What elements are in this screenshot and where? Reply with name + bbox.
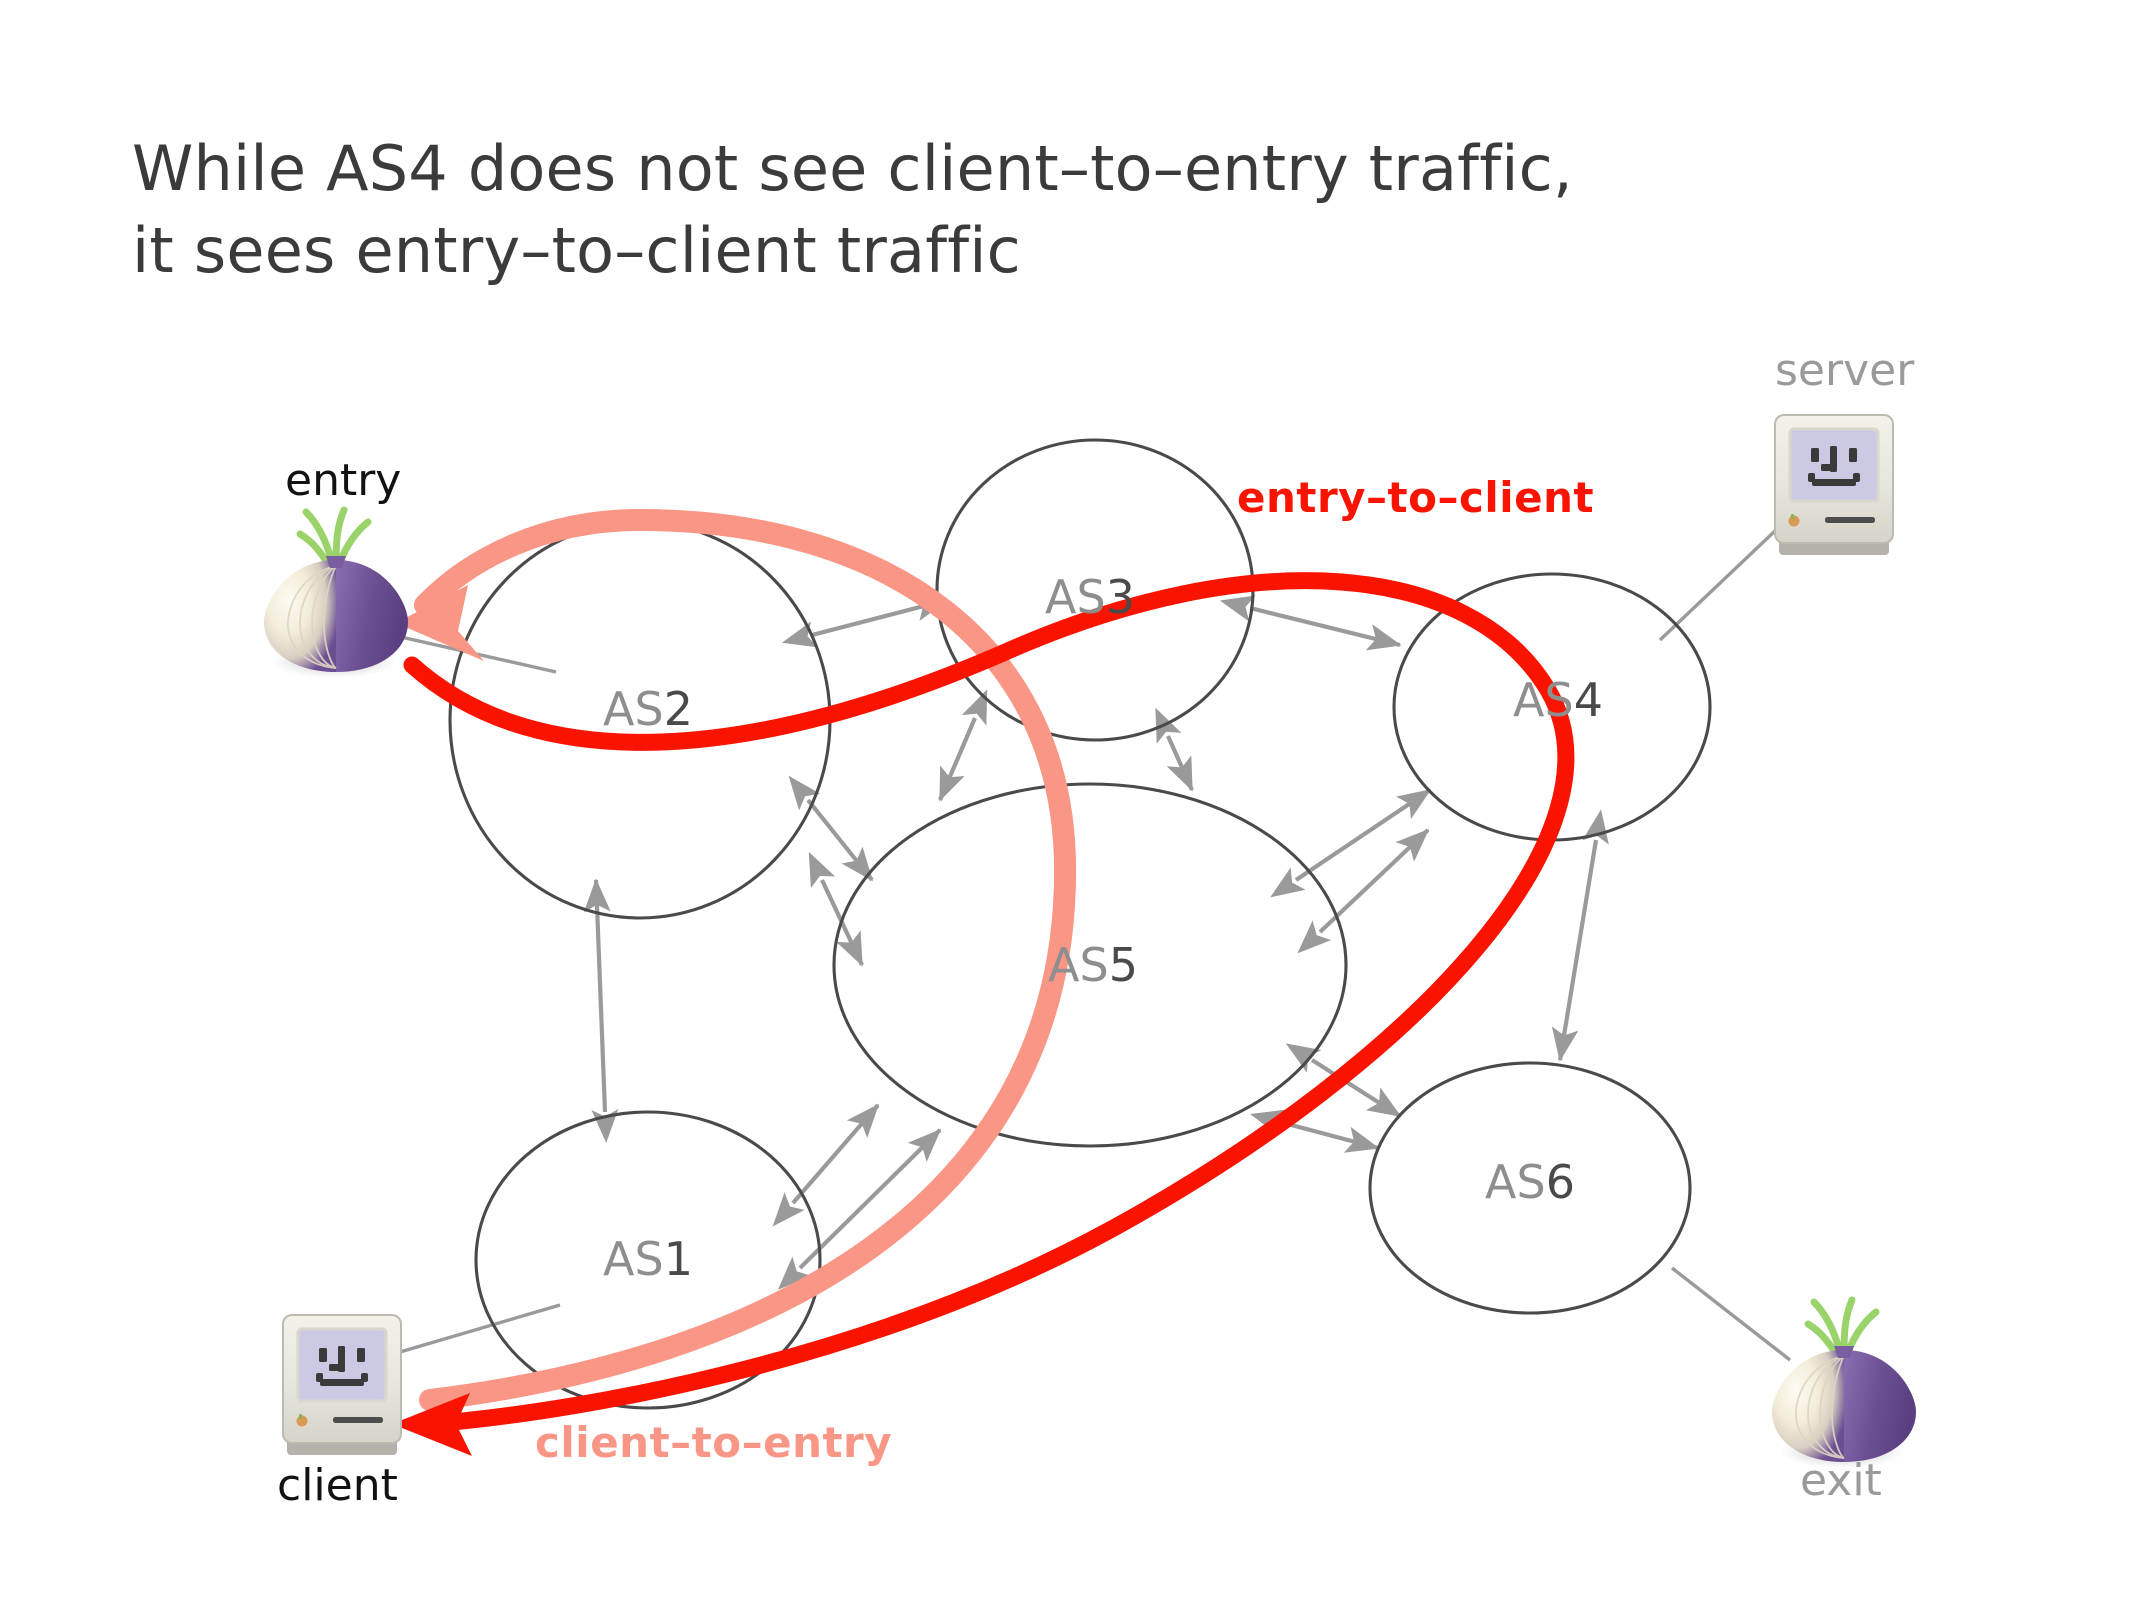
onion-body-right xyxy=(336,560,408,672)
as-label-as4: AS4 xyxy=(1513,673,1603,727)
as-label-as2: AS2 xyxy=(603,682,693,736)
peer-link-as5-as4 xyxy=(1296,790,1430,880)
mac-computer-icon-server[interactable] xyxy=(1775,415,1893,555)
peer-link-as3-as5-b xyxy=(1168,736,1192,790)
onion-icon-entry[interactable] xyxy=(264,510,408,678)
as-node-labels: AS2 AS3 AS4 AS5 AS1 AS6 xyxy=(603,570,1603,1286)
flow-label-entry-to-client: entry–to–client xyxy=(1237,473,1594,522)
peer-links xyxy=(596,600,1596,1268)
peer-link-as5-as6-b xyxy=(1280,1122,1378,1148)
mac-drive-slot xyxy=(333,1417,383,1423)
endpoint-label-server: server xyxy=(1775,345,1914,396)
mac-drive-slot xyxy=(1825,517,1875,523)
flow-client-to-entry xyxy=(396,520,1065,1400)
flow-entry-to-client xyxy=(392,581,1566,1456)
peer-link-as1-as5 xyxy=(793,1105,878,1203)
peer-link-as3-as4 xyxy=(1250,608,1400,645)
flow-client-to-entry-path xyxy=(425,520,1065,1400)
flow-label-client-to-entry: client–to–entry xyxy=(535,1418,892,1467)
onion-sprout-icon xyxy=(1808,1300,1876,1354)
endpoint-label-exit: exit xyxy=(1800,1455,1882,1506)
as-label-as5: AS5 xyxy=(1048,938,1138,992)
as-label-as3: AS3 xyxy=(1045,570,1135,624)
peer-link-as4-as6 xyxy=(1560,840,1596,1060)
host-link-client-as1 xyxy=(400,1305,560,1352)
host-link-exit-as6 xyxy=(1672,1268,1790,1360)
peer-link-as3-as5 xyxy=(940,718,975,800)
as-label-as1: AS1 xyxy=(603,1232,693,1286)
host-link-server-as4 xyxy=(1660,530,1776,640)
peer-link-as2-as5 xyxy=(808,800,872,880)
onion-sprout-icon xyxy=(300,510,368,564)
endpoint-label-client: client xyxy=(277,1460,398,1511)
network-diagram: AS2 AS3 AS4 AS5 AS1 AS6 xyxy=(0,0,2134,1600)
mac-computer-icon-client[interactable] xyxy=(283,1315,401,1455)
as-label-as6: AS6 xyxy=(1485,1155,1575,1209)
onion-icon-exit[interactable] xyxy=(1772,1300,1916,1468)
slide-canvas: While AS4 does not see client–to–entry t… xyxy=(0,0,2134,1600)
endpoint-label-entry: entry xyxy=(285,455,401,506)
onion-body-right xyxy=(1844,1350,1916,1462)
